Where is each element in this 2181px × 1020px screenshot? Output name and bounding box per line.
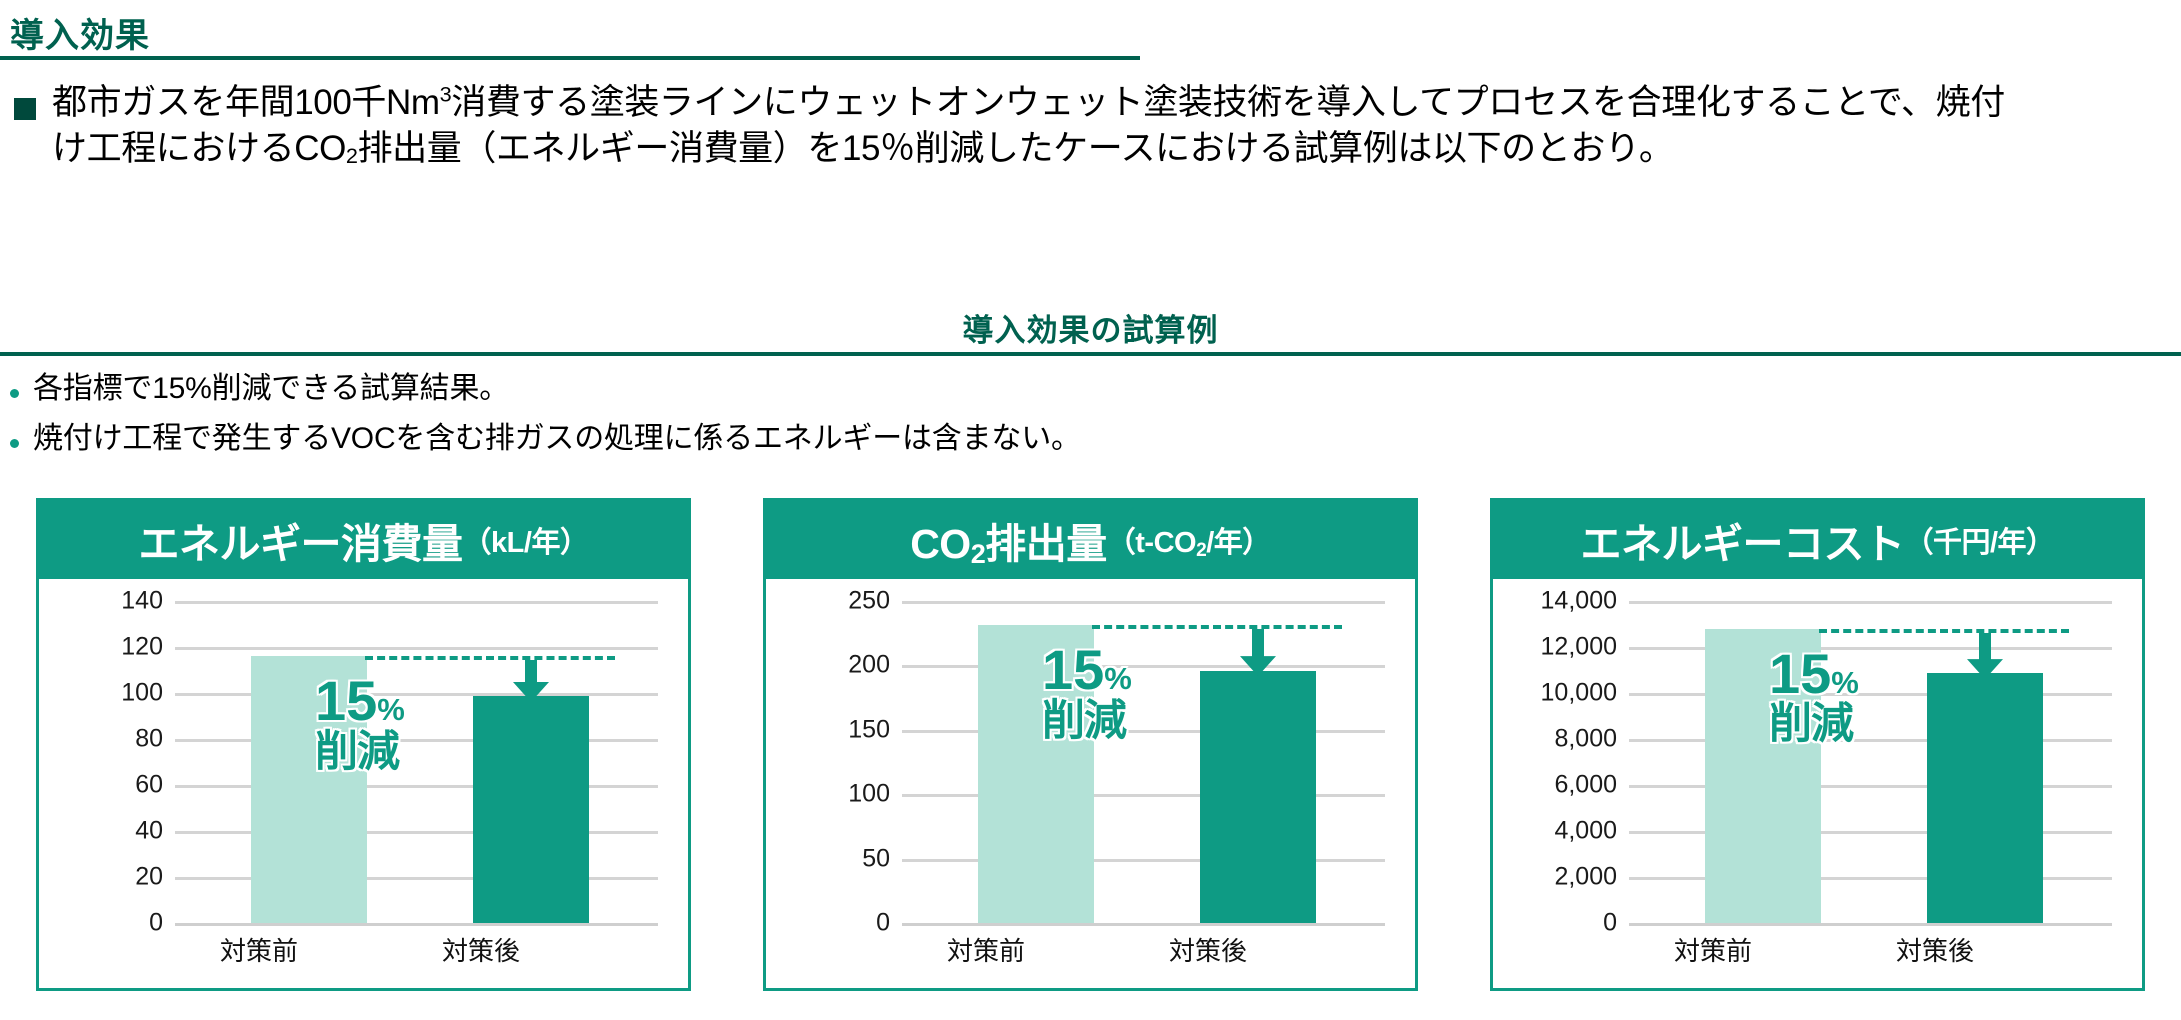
chart-plot: 14,00012,00010,0008,0006,0004,0002,00001… bbox=[1507, 601, 2118, 988]
title-underline bbox=[0, 56, 1140, 60]
reduction-annotation: 15%削減 bbox=[315, 674, 405, 773]
chart-unit: （kL/年） bbox=[463, 519, 589, 561]
y-axis-tick-label: 8,000 bbox=[1554, 725, 1617, 754]
page-title: 導入効果 bbox=[10, 8, 150, 57]
y-axis-tick-label: 120 bbox=[121, 633, 163, 662]
reduction-label: 削減 bbox=[315, 731, 405, 773]
reference-dashed-line bbox=[1092, 625, 1342, 629]
chart-card-3: エネルギーコスト（千円/年）14,00012,00010,0008,0006,0… bbox=[1490, 498, 2145, 991]
y-axis: 14,00012,00010,0008,0006,0004,0002,0000 bbox=[1507, 601, 1625, 923]
reduction-percent-sign: % bbox=[377, 692, 405, 727]
chart-plot: 14012010080604020015%削減対策前対策後 bbox=[53, 601, 664, 988]
x-axis-label-after: 対策後 bbox=[381, 931, 581, 968]
chart-title: CO2排出量 bbox=[910, 510, 1107, 570]
y-axis-tick-label: 100 bbox=[848, 780, 890, 809]
reduction-value: 15 bbox=[1769, 642, 1831, 705]
x-axis-label-before: 対策前 bbox=[886, 931, 1086, 968]
chart-card-slot: エネルギーコスト（千円/年）14,00012,00010,0008,0006,0… bbox=[1454, 498, 2181, 991]
chart-plot-area: 14,00012,00010,0008,0006,0004,0002,00001… bbox=[1493, 579, 2142, 988]
y-axis-tick-label: 14,000 bbox=[1541, 587, 1617, 616]
bar-group: 15%削減 bbox=[175, 601, 658, 923]
x-axis-label-after: 対策後 bbox=[1108, 931, 1308, 968]
subsection-title: 導入効果の試算例 bbox=[0, 305, 2181, 350]
reduction-label: 削減 bbox=[1769, 703, 1859, 745]
lead-superscript: 3 bbox=[440, 81, 452, 106]
y-axis-tick-label: 40 bbox=[135, 817, 163, 846]
x-axis: 対策前対策後 bbox=[175, 931, 658, 977]
chart-card-header: エネルギー消費量（kL/年） bbox=[39, 501, 688, 579]
bar-after bbox=[1200, 671, 1316, 923]
reference-dashed-line bbox=[365, 656, 615, 660]
chart-card-row: エネルギー消費量（kL/年）14012010080604020015%削減対策前… bbox=[0, 498, 2181, 991]
bar-group: 15%削減 bbox=[902, 601, 1385, 923]
lead-text-part-2: 消費する塗装ラインにウェットオンウェット塗装技術を導入してプロセスを合理化するこ… bbox=[451, 83, 2005, 122]
notes-list: 各指標で15%削減できる試算結果。 焼付け工程で発生するVOCを含む排ガスの処理… bbox=[10, 370, 2110, 469]
y-axis-tick-label: 50 bbox=[862, 844, 890, 873]
slide-root: 導入効果 都市ガスを年間100千Nm3消費する塗装ラインにウェットオンウェット塗… bbox=[0, 0, 2181, 1020]
note-text: 焼付け工程で発生するVOCを含む排ガスの処理に係るエネルギーは含まない。 bbox=[33, 420, 1081, 458]
y-axis-tick-label: 10,000 bbox=[1541, 679, 1617, 708]
chart-title: エネルギーコスト bbox=[1580, 510, 1904, 570]
x-axis-label-before: 対策前 bbox=[159, 931, 359, 968]
chart-plot-area: 25020015010050015%削減対策前対策後 bbox=[766, 579, 1415, 988]
chart-unit: （t-CO2/年） bbox=[1107, 519, 1271, 561]
chart-card-1: エネルギー消費量（kL/年）14012010080604020015%削減対策前… bbox=[36, 498, 691, 991]
dot-bullet-icon bbox=[10, 389, 19, 398]
x-axis: 対策前対策後 bbox=[1629, 931, 2112, 977]
down-arrow-icon bbox=[1238, 629, 1278, 676]
reduction-annotation: 15%削減 bbox=[1769, 647, 1859, 746]
lead-text-part-3: け工程におけるCO bbox=[52, 129, 346, 168]
y-axis-tick-label: 60 bbox=[135, 771, 163, 800]
chart-plot: 25020015010050015%削減対策前対策後 bbox=[780, 601, 1391, 988]
chart-plot-area: 14012010080604020015%削減対策前対策後 bbox=[39, 579, 688, 988]
lead-paragraph: 都市ガスを年間100千Nm3消費する塗装ラインにウェットオンウェット塗装技術を導… bbox=[14, 80, 2174, 171]
y-axis: 140120100806040200 bbox=[53, 601, 171, 923]
axis-baseline bbox=[175, 923, 658, 926]
reduction-value: 15 bbox=[315, 669, 377, 732]
y-axis-tick-label: 150 bbox=[848, 715, 890, 744]
chart-card-slot: CO2排出量（t-CO2/年）25020015010050015%削減対策前対策… bbox=[727, 498, 1454, 991]
lead-text-part-1: 都市ガスを年間100千Nm bbox=[52, 83, 440, 122]
y-axis: 250200150100500 bbox=[780, 601, 898, 923]
y-axis-tick-label: 250 bbox=[848, 587, 890, 616]
x-axis: 対策前対策後 bbox=[902, 931, 1385, 977]
y-axis-tick-label: 12,000 bbox=[1541, 633, 1617, 662]
chart-card-header: CO2排出量（t-CO2/年） bbox=[766, 501, 1415, 579]
bar-after bbox=[473, 696, 589, 923]
y-axis-tick-label: 6,000 bbox=[1554, 771, 1617, 800]
x-axis-label-before: 対策前 bbox=[1613, 931, 1813, 968]
reference-dashed-line bbox=[1819, 629, 2069, 633]
chart-title: エネルギー消費量 bbox=[139, 510, 463, 570]
reduction-annotation: 15%削減 bbox=[1042, 643, 1132, 742]
subsection-underline bbox=[0, 352, 2181, 356]
reduction-value: 15 bbox=[1042, 638, 1104, 701]
square-bullet-icon bbox=[14, 98, 36, 120]
reduction-percent-sign: % bbox=[1831, 665, 1859, 700]
bar-after bbox=[1927, 673, 2043, 923]
y-axis-tick-label: 140 bbox=[121, 587, 163, 616]
chart-card-slot: エネルギー消費量（kL/年）14012010080604020015%削減対策前… bbox=[0, 498, 727, 991]
down-arrow-icon bbox=[511, 660, 551, 702]
axis-baseline bbox=[1629, 923, 2112, 926]
y-axis-tick-label: 100 bbox=[121, 679, 163, 708]
lead-text-part-4: 排出量（エネルギー消費量）を15％削減したケースにおける試算例は以下のとおり。 bbox=[358, 129, 1674, 168]
list-item: 焼付け工程で発生するVOCを含む排ガスの処理に係るエネルギーは含まない。 bbox=[10, 420, 2110, 458]
lead-subscript: 2 bbox=[346, 143, 358, 168]
lead-paragraph-text: 都市ガスを年間100千Nm3消費する塗装ラインにウェットオンウェット塗装技術を導… bbox=[52, 80, 2172, 171]
note-text: 各指標で15%削減できる試算結果。 bbox=[33, 370, 509, 408]
y-axis-tick-label: 20 bbox=[135, 863, 163, 892]
reduction-percent-sign: % bbox=[1104, 661, 1132, 696]
x-axis-label-after: 対策後 bbox=[1835, 931, 2035, 968]
y-axis-tick-label: 4,000 bbox=[1554, 817, 1617, 846]
chart-card-header: エネルギーコスト（千円/年） bbox=[1493, 501, 2142, 579]
y-axis-tick-label: 2,000 bbox=[1554, 863, 1617, 892]
y-axis-tick-label: 200 bbox=[848, 651, 890, 680]
bar-group: 15%削減 bbox=[1629, 601, 2112, 923]
chart-card-2: CO2排出量（t-CO2/年）25020015010050015%削減対策前対策… bbox=[763, 498, 1418, 991]
reduction-label: 削減 bbox=[1042, 700, 1132, 742]
dot-bullet-icon bbox=[10, 439, 19, 448]
list-item: 各指標で15%削減できる試算結果。 bbox=[10, 370, 2110, 408]
chart-unit: （千円/年） bbox=[1904, 519, 2054, 561]
axis-baseline bbox=[902, 923, 1385, 926]
down-arrow-icon bbox=[1965, 633, 2005, 679]
y-axis-tick-label: 80 bbox=[135, 725, 163, 754]
